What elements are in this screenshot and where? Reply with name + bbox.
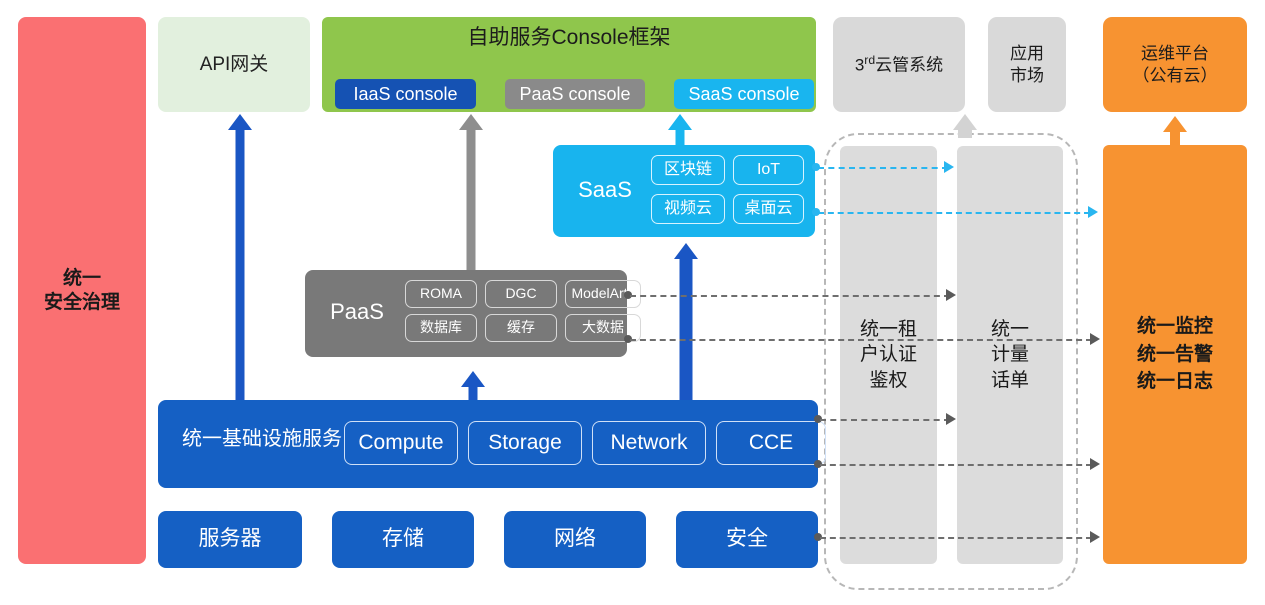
connector-arrowhead-saas-to-ops <box>1088 206 1098 218</box>
arrow-ops-body-to-ops-platform <box>1163 116 1187 146</box>
arrow-shared-to-third-party-cloud <box>951 114 979 138</box>
iaas-console-chip[interactable]: IaaS console <box>335 79 476 109</box>
paas-layer-block: PaaS ROMA DGC ModelArts 数据库 缓存 大数据 <box>305 270 627 357</box>
saas-item-video-cloud[interactable]: 视频云 <box>651 194 725 224</box>
ops-line-alarm: 统一告警 <box>1137 341 1213 369</box>
ops-platform-block: 运维平台 （公有云） <box>1103 17 1247 112</box>
arrow-saas-to-console <box>668 114 692 145</box>
third-party-cloud-mgmt-label: 3rd云管系统 <box>855 53 943 76</box>
paas-console-chip[interactable]: PaaS console <box>505 79 645 109</box>
app-market-block: 应用 市场 <box>988 17 1066 112</box>
ops-capabilities-block: 统一监控 统一告警 统一日志 <box>1103 145 1247 564</box>
architecture-diagram: 统一 安全治理 API网关 自助服务Console框架 IaaS console… <box>0 0 1265 605</box>
connector-arrowhead-iaas-to-ops <box>1090 458 1100 470</box>
auth-line2: 户认证 <box>860 342 917 368</box>
iaas-item-storage[interactable]: Storage <box>468 421 582 465</box>
resource-box-server: 服务器 <box>158 511 302 568</box>
arrow-paas-to-console <box>459 114 483 270</box>
app-market-line2: 市场 <box>1010 65 1044 86</box>
paas-item-dgc[interactable]: DGC <box>485 280 557 308</box>
arrow-iaas-to-api-gateway <box>228 114 252 400</box>
connector-arrowhead-saas-to-auth <box>944 161 954 173</box>
saas-layer-label: SaaS <box>565 176 645 204</box>
api-gateway-label: API网关 <box>200 53 269 77</box>
billing-line2: 计量 <box>991 342 1029 368</box>
iaas-item-network[interactable]: Network <box>592 421 706 465</box>
connector-saas-to-ops <box>818 212 1090 214</box>
connector-resources-to-ops <box>820 537 1092 539</box>
connector-arrowhead-paas-to-ops <box>1090 333 1100 345</box>
paas-item-roma[interactable]: ROMA <box>405 280 477 308</box>
unified-infrastructure-service-bar: 统一基础设施服务 Compute Storage Network CCE <box>158 400 818 488</box>
ops-line-log: 统一日志 <box>1137 368 1213 396</box>
resource-box-storage: 存储 <box>332 511 474 568</box>
saas-console-chip[interactable]: SaaS console <box>674 79 814 109</box>
connector-iaas-to-ops <box>820 464 1092 466</box>
paas-item-cache[interactable]: 缓存 <box>485 314 557 342</box>
ops-platform-line1: 运维平台 <box>1133 43 1218 64</box>
resource-box-network: 网络 <box>504 511 646 568</box>
saas-layer-block: SaaS 区块链 IoT 视频云 桌面云 <box>553 145 815 237</box>
connector-arrowhead-paas-to-auth <box>946 289 956 301</box>
paas-layer-label: PaaS <box>315 298 399 326</box>
security-label-line1: 统一 <box>44 267 120 291</box>
unified-tenant-auth-column: 统一租 户认证 鉴权 <box>840 146 937 564</box>
resource-box-security: 安全 <box>676 511 818 568</box>
saas-item-blockchain[interactable]: 区块链 <box>651 155 725 185</box>
saas-item-iot[interactable]: IoT <box>733 155 804 185</box>
third-party-cloud-mgmt-block: 3rd云管系统 <box>833 17 965 112</box>
connector-paas-to-auth <box>630 295 950 297</box>
ops-line-monitoring: 统一监控 <box>1137 313 1213 341</box>
connector-arrowhead-iaas-to-auth <box>946 413 956 425</box>
arrow-iaas-to-saas <box>673 243 699 400</box>
unified-security-governance-block: 统一 安全治理 <box>18 17 146 564</box>
iaas-bar-label: 统一基础设施服务 <box>182 427 342 452</box>
connector-iaas-to-auth <box>820 419 950 421</box>
billing-line3: 话单 <box>991 368 1029 394</box>
security-label-line2: 安全治理 <box>44 291 120 315</box>
arrow-iaas-to-paas <box>461 371 485 400</box>
saas-item-desktop-cloud[interactable]: 桌面云 <box>733 194 804 224</box>
iaas-item-compute[interactable]: Compute <box>344 421 458 465</box>
app-market-line1: 应用 <box>1010 43 1044 64</box>
unified-billing-column: 统一 计量 话单 <box>957 146 1063 564</box>
api-gateway-block: API网关 <box>158 17 310 112</box>
connector-saas-to-auth <box>818 167 948 169</box>
console-frame-title: 自助服务Console框架 <box>322 25 816 51</box>
self-service-console-frame: 自助服务Console框架 IaaS console PaaS console … <box>322 17 816 112</box>
auth-line3: 鉴权 <box>860 368 917 394</box>
connector-arrowhead-resources-to-ops <box>1090 531 1100 543</box>
ops-platform-line2: （公有云） <box>1133 65 1218 86</box>
connector-paas-to-ops <box>630 339 1092 341</box>
paas-item-database[interactable]: 数据库 <box>405 314 477 342</box>
iaas-item-cce[interactable]: CCE <box>716 421 826 465</box>
